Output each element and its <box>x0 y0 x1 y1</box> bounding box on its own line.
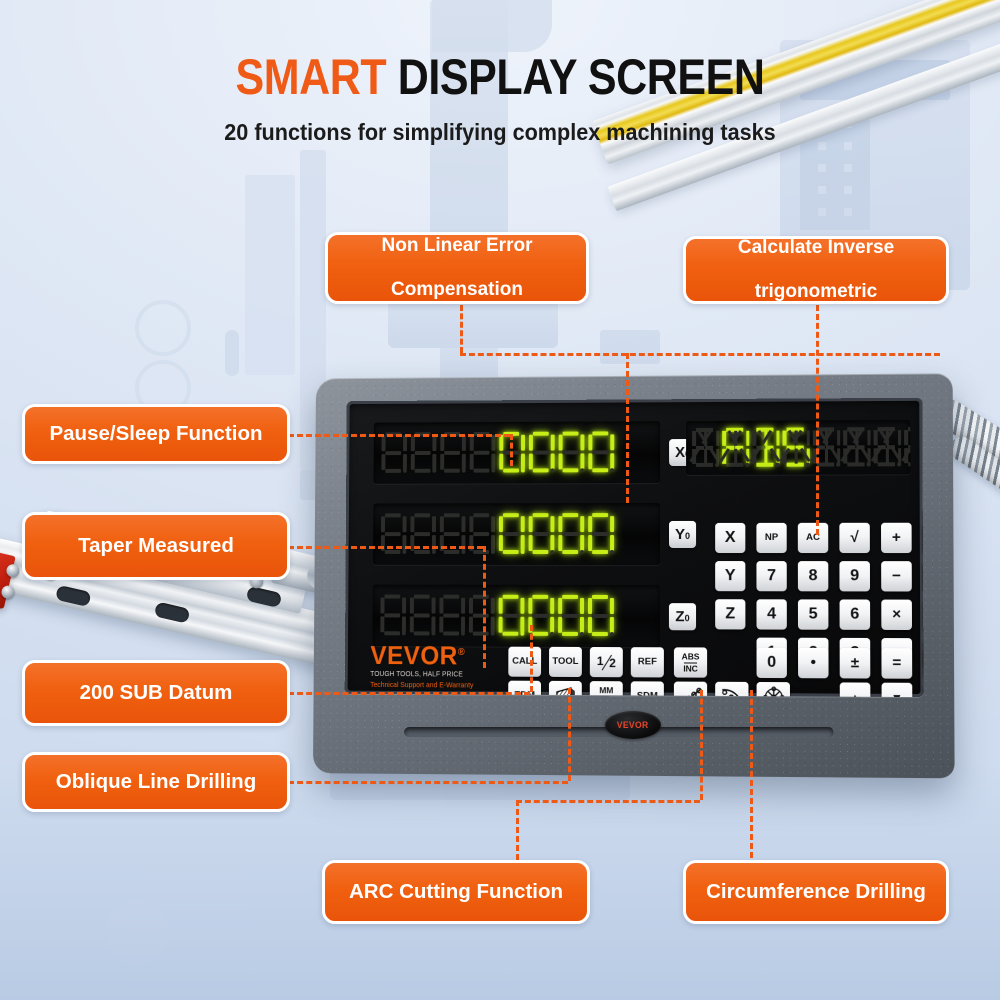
dro-bottom-badge-text: VEVOR <box>617 719 649 730</box>
callout-arc-label: ARC Cutting Function <box>339 880 573 904</box>
connector-arc-vertical-1 <box>516 800 519 860</box>
status-display <box>686 420 910 475</box>
key-axis-z[interactable]: Z <box>715 599 745 629</box>
axis-key-z0-sub: 0 <box>685 614 690 623</box>
callout-200sub-label: 200 SUB Datum <box>70 681 243 705</box>
arc-cutting-icon <box>720 686 744 697</box>
infographic-canvas: SMART DISPLAY SCREEN 20 functions for si… <box>0 0 1000 1000</box>
connector-taper-horizontal <box>288 546 483 549</box>
led-digit-blank <box>438 595 465 637</box>
key-6[interactable]: 6 <box>840 599 871 629</box>
alpha-cell-S <box>780 427 810 467</box>
key-mm-label: MM <box>596 686 616 695</box>
led-digit-zero <box>587 431 614 473</box>
readout-row-y <box>373 503 660 565</box>
alpha-cell-A <box>720 428 750 468</box>
led-digit-blank <box>468 595 495 637</box>
key-decimal-point[interactable]: • <box>798 648 829 678</box>
key-abs-inc[interactable]: ABS INC <box>674 647 707 677</box>
callout-non-linear-line-2: Compensation <box>372 279 543 301</box>
callout-non-linear-line-1: Non Linear Error <box>372 235 543 257</box>
vevor-wordmark: VEVOR® <box>370 642 465 668</box>
connector-calc-inverse-vertical <box>816 305 819 535</box>
callout-calculate-inverse-trigonometric[interactable]: Calculate Inversetrigonometric <box>683 236 949 304</box>
connector-oblique-vertical <box>568 688 571 781</box>
axis-key-y0-sub: 0 <box>685 532 690 541</box>
key-call[interactable]: CALL <box>508 647 541 677</box>
callout-taper-label: Taper Measured <box>68 534 244 558</box>
led-digit-zero <box>498 595 525 637</box>
led-digit-zero <box>557 595 584 637</box>
key-arrow-up[interactable]: ▲ <box>840 682 871 697</box>
key-half-fraction: 12 <box>594 655 619 669</box>
alpha-cell-blank <box>872 427 903 467</box>
bg-panel-left <box>245 175 295 375</box>
bg-dial-1 <box>135 300 191 356</box>
key-7[interactable]: 7 <box>756 561 786 591</box>
led-digit-zero <box>528 432 555 474</box>
key-multiply[interactable]: × <box>881 600 912 630</box>
led-digit-blank <box>379 595 406 637</box>
faceplate-brand: VEVOR® TOUGH TOOLS, HALF PRICE Technical… <box>370 642 494 697</box>
key-half[interactable]: 12 <box>590 647 623 677</box>
led-digit-blank <box>380 432 407 474</box>
led-digit-zero <box>498 513 525 555</box>
connector-pause-sleep-vertical <box>510 434 513 466</box>
header: SMART DISPLAY SCREEN 20 functions for si… <box>0 48 1000 146</box>
warranty-line-1: Technical Support and E-Warranty <box>370 680 489 690</box>
key-4[interactable]: 4 <box>756 599 786 629</box>
alpha-cell-blank <box>690 428 720 468</box>
axis-key-z0[interactable]: Z0 <box>669 603 696 630</box>
key-equals[interactable]: = <box>881 648 912 679</box>
connector-arc-horizontal <box>516 800 700 803</box>
callout-pause-sleep-label: Pause/Sleep Function <box>39 422 272 446</box>
circumference-drilling-icon <box>761 686 785 697</box>
callout-oblique-label: Oblique Line Drilling <box>46 770 266 794</box>
connector-circumference-vertical <box>750 690 753 858</box>
key-sqrt[interactable]: √ <box>839 523 870 553</box>
key-axis-x[interactable]: X <box>715 523 745 553</box>
key-tool[interactable]: TOOL <box>549 647 582 677</box>
alpha-cell-blank <box>902 427 910 467</box>
alpha-cell-blank <box>841 427 872 467</box>
key-sdm[interactable]: SDM <box>631 681 664 697</box>
key-ac[interactable]: AC <box>798 523 828 553</box>
connector-taper-vertical <box>483 546 486 668</box>
page-title: SMART DISPLAY SCREEN <box>70 48 930 106</box>
key-plus[interactable]: + <box>881 523 912 553</box>
axis-key-z0-letter: Z <box>675 609 684 624</box>
key-mm-inch[interactable]: MM INCH <box>590 681 623 697</box>
callout-pause-sleep-function[interactable]: Pause/Sleep Function <box>22 404 290 464</box>
led-digit-blank <box>409 595 436 637</box>
vevor-wordmark-text: VEVOR <box>370 640 458 670</box>
callout-circumference-label: Circumference Drilling <box>696 880 936 904</box>
oblique-line-drilling-icon <box>678 686 702 697</box>
brand-tagline: TOUGH TOOLS, HALF PRICE <box>370 671 489 679</box>
connector-200sub-vertical <box>530 625 533 692</box>
axis-key-y0[interactable]: Y0 <box>669 521 696 548</box>
callout-non-linear-error-compensation[interactable]: Non Linear ErrorCompensation <box>325 232 589 304</box>
led-digit-zero <box>557 513 584 555</box>
led-digit-blank <box>439 432 466 474</box>
connector-pause-sleep-horizontal <box>288 434 510 437</box>
callout-oblique-line-drilling[interactable]: Oblique Line Drilling <box>22 752 290 812</box>
led-digit-blank <box>469 432 496 474</box>
key-abs-inc-stack: ABS INC <box>682 652 700 673</box>
key-plus-minus[interactable]: ± <box>840 648 871 679</box>
led-digit-blank <box>410 432 437 474</box>
callout-arc-cutting-function[interactable]: ARC Cutting Function <box>322 860 590 924</box>
key-8[interactable]: 8 <box>798 561 828 591</box>
dro-bottom-badge: VEVOR <box>605 711 661 739</box>
connector-non-linear-vertical-2 <box>626 353 629 503</box>
callout-circumference-drilling[interactable]: Circumference Drilling <box>683 860 949 924</box>
registered-mark: ® <box>458 647 465 658</box>
key-circumference-drilling[interactable] <box>757 682 790 697</box>
led-digit-zero <box>587 513 614 555</box>
axis-key-y0-letter: Y <box>675 527 685 542</box>
connector-non-linear-horizontal <box>460 353 940 356</box>
key-9[interactable]: 9 <box>839 561 870 591</box>
readout-row-x <box>374 421 661 484</box>
page-subtitle: 20 functions for simplifying complex mac… <box>40 119 960 146</box>
key-0[interactable]: 0 <box>757 648 787 678</box>
connector-arc-vertical-2 <box>700 690 703 800</box>
key-arc-cutting[interactable] <box>715 682 748 697</box>
callout-taper-measured[interactable]: Taper Measured <box>22 512 290 580</box>
key-5[interactable]: 5 <box>798 599 828 629</box>
bg-block <box>600 330 660 364</box>
key-np[interactable]: NP <box>756 523 786 553</box>
title-rest: DISPLAY SCREEN <box>398 49 765 105</box>
bg-lever <box>225 330 239 376</box>
key-taper-measure[interactable] <box>549 681 582 697</box>
key-arrow-down[interactable]: ▼ <box>882 683 913 697</box>
key-axis-y[interactable]: Y <box>715 561 745 591</box>
key-inc-label: INC <box>682 664 700 673</box>
connector-oblique-horizontal <box>288 781 568 784</box>
key-ref[interactable]: REF <box>631 647 664 677</box>
led-digit-zero <box>528 513 555 555</box>
callout-calc-inverse-line-2: trigonometric <box>728 281 904 303</box>
title-highlight: SMART <box>235 49 386 105</box>
readout-row-z <box>372 585 660 648</box>
axis-key-x0-letter: X <box>675 445 685 460</box>
led-digit-zero <box>587 595 614 637</box>
alpha-cell-B <box>750 428 780 468</box>
led-digit-zero <box>558 432 585 474</box>
key-abs-label: ABS <box>682 652 700 661</box>
connector-non-linear-vertical-1 <box>460 305 463 353</box>
callout-200-sub-datum[interactable]: 200 SUB Datum <box>22 660 290 726</box>
key-minus[interactable]: − <box>881 561 912 591</box>
callout-calc-inverse-line-1: Calculate Inverse <box>728 237 904 259</box>
connector-200sub-horizontal <box>288 692 530 695</box>
